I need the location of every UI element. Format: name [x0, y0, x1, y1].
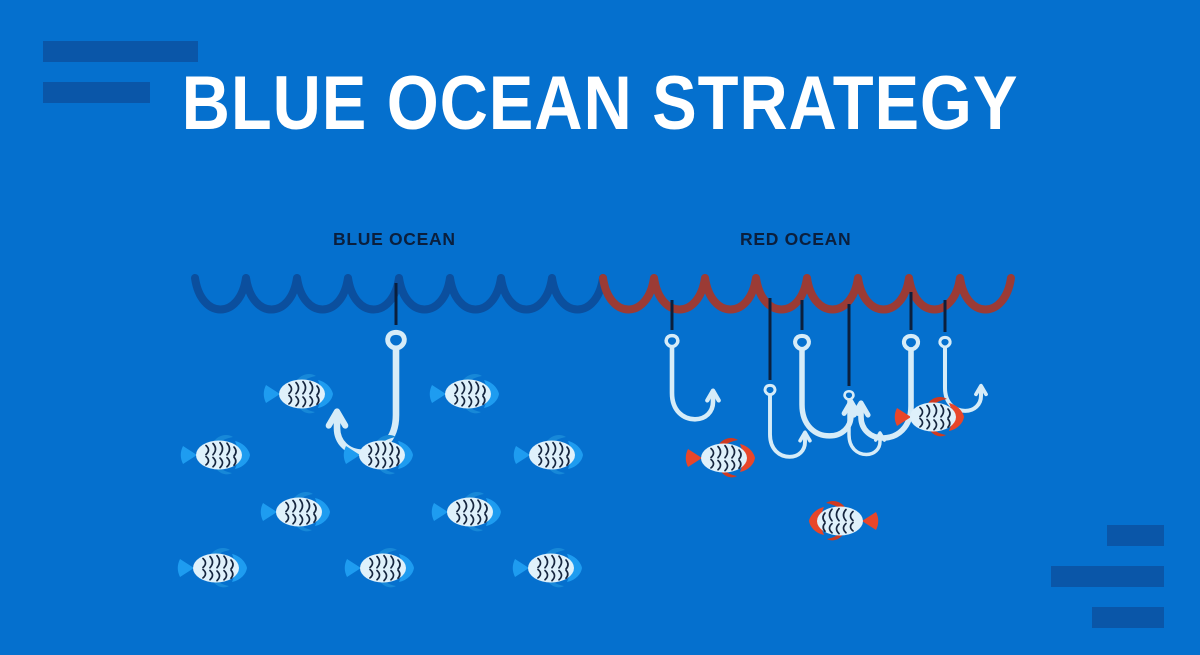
fish-body-group: [181, 435, 250, 474]
fish-body-group: [809, 501, 878, 540]
fish-body-group: [345, 548, 414, 587]
red-hook-6-body: [940, 337, 986, 410]
wave-blue-segment: [195, 278, 603, 310]
fish-body-group: [344, 435, 413, 474]
red-hook-1: [666, 300, 719, 419]
fish-body-group: [178, 548, 247, 587]
fish-body-group: [430, 374, 499, 413]
red-fish-2: [686, 438, 755, 477]
ocean-illustration: [0, 0, 1200, 655]
blue-fish-4: [344, 435, 413, 474]
poster-canvas: BLUE OCEAN STRATEGY BLUE OCEAN RED OCEAN: [0, 0, 1200, 655]
blue-fish-5: [514, 435, 583, 474]
blue-fish-8: [178, 548, 247, 587]
blue-fish-9: [345, 548, 414, 587]
fish-body-group: [513, 548, 582, 587]
wave-line: [195, 278, 1011, 310]
blue-fish-7: [432, 492, 501, 531]
blue-fish-6: [261, 492, 330, 531]
fish-body-group: [261, 492, 330, 531]
fish-body-group: [432, 492, 501, 531]
red-hook-1-body: [666, 336, 719, 420]
blue-fish-10: [513, 548, 582, 587]
fish-body-group: [514, 435, 583, 474]
fish-body-group: [686, 438, 755, 477]
blue-fish-2: [430, 374, 499, 413]
red-hook-6: [940, 300, 986, 411]
wave-red-segment: [603, 278, 1011, 310]
red-hook-5-body: [854, 336, 918, 438]
fish-body-group: [264, 374, 333, 413]
red-fish-3: [809, 501, 878, 540]
blue-fish-3: [181, 435, 250, 474]
blue-fish-1: [264, 374, 333, 413]
blue-hook-large-body: [329, 332, 405, 452]
